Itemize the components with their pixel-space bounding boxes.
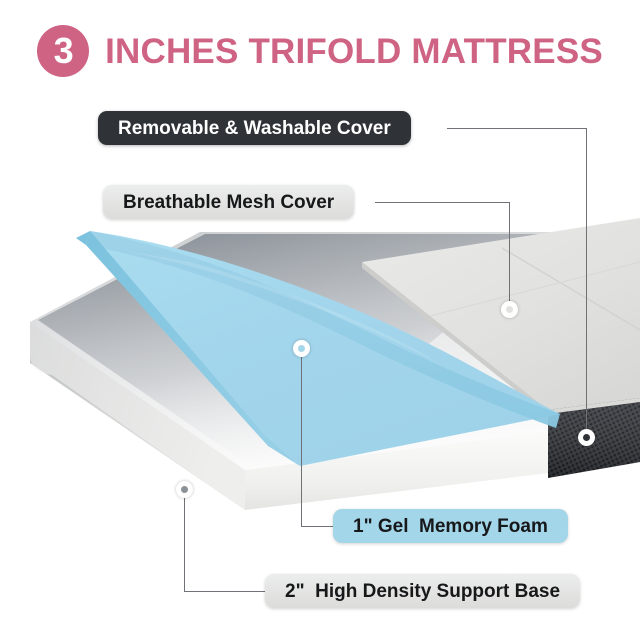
callout-label-breathable-mesh-cover[interactable]: Breathable Mesh Cover	[103, 185, 354, 219]
callout-label-removable-washable-cover[interactable]: Removable & Washable Cover	[98, 111, 411, 145]
mattress-infographic: 3 INCHES TRIFOLD MATTRESS	[0, 0, 640, 640]
callout-label-gel-memory-foam[interactable]: 1" Gel Memory Foam	[333, 509, 568, 543]
callout-label-high-density-support-base[interactable]: 2" High Density Support Base	[265, 574, 580, 608]
callout-dot-removable-cover[interactable]	[578, 429, 595, 446]
mattress-illustration	[0, 0, 640, 640]
callout-dot-breathable-mesh[interactable]	[501, 301, 518, 318]
callout-dot-support-base[interactable]	[176, 481, 193, 498]
callout-dot-gel-foam[interactable]	[293, 340, 310, 357]
